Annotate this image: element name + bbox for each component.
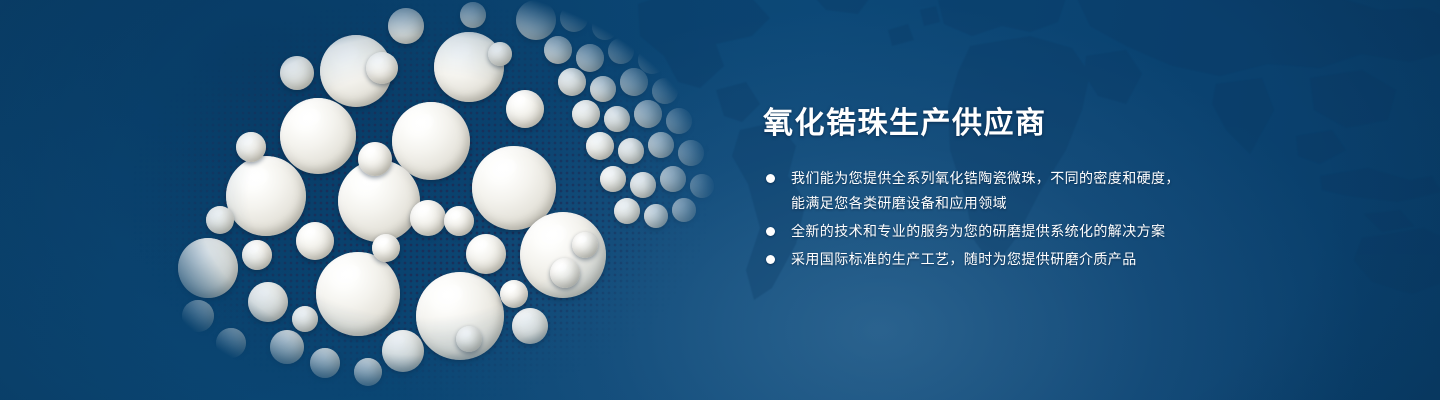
vignette-overlay xyxy=(0,0,1440,400)
hero-banner: 氧化锆珠生产供应商 我们能为您提供全系列氧化锆陶瓷微珠，不同的密度和硬度， 能满… xyxy=(0,0,1440,400)
